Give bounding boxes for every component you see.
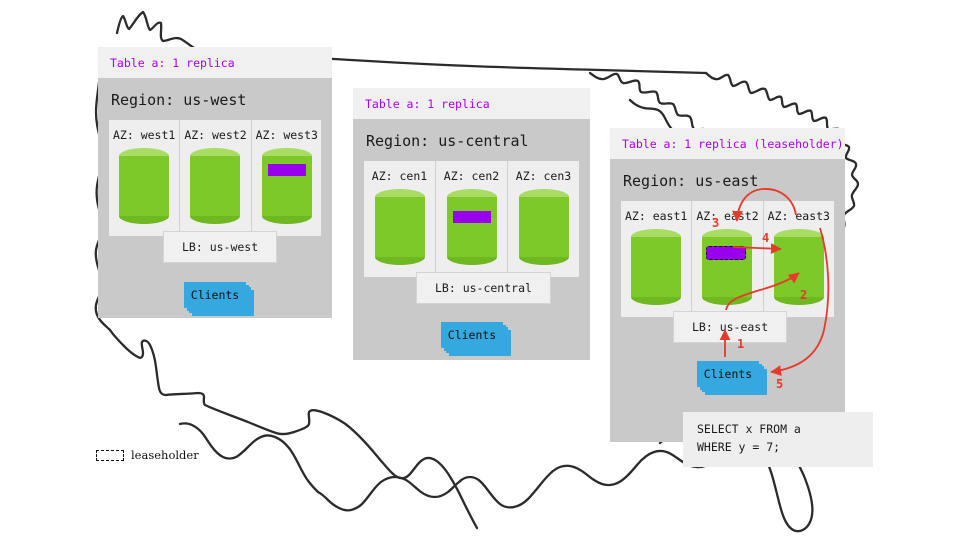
node-cylinder-east1[interactable] [631,229,681,305]
region-panel-us-west: Table a: 1 replica Region: us-west AZ: w… [98,47,332,318]
cylinder-body-icon [774,237,824,297]
az-cell-cen2[interactable]: AZ: cen2 [436,161,508,277]
az-label-east1: AZ: east1 [625,209,687,223]
cylinder-body-icon [375,197,425,257]
az-label-cen2: AZ: cen2 [440,169,503,183]
az-label-cen3: AZ: cen3 [512,169,575,183]
clients-label-us-west[interactable]: Clients [184,282,246,308]
cylinder-body-icon [631,237,681,297]
node-cylinder-cen1[interactable] [375,189,425,265]
az-label-east2: AZ: east2 [696,209,758,223]
legend-label: leaseholder [131,448,199,462]
az-row-us-central: AZ: cen1 AZ: cen2 [364,161,579,277]
cylinder-body-icon [519,197,569,257]
region-panel-us-east: Table a: 1 replica (leaseholder) Region:… [610,128,845,442]
replica-marker-west3 [268,164,306,176]
region-title-us-central: Region: us-central [364,127,579,161]
load-balancer-us-central[interactable]: LB: us-central [416,272,551,304]
az-label-west1: AZ: west1 [113,128,175,142]
flow-step-label-3: 3 [712,216,719,230]
az-cell-east3[interactable]: AZ: east3 [764,201,834,317]
flow-step-label-2: 2 [800,288,807,302]
node-cylinder-west2[interactable] [190,148,240,224]
region-panel-us-central: Table a: 1 replica Region: us-central AZ… [353,88,590,360]
clients-label-us-central[interactable]: Clients [441,322,503,348]
region-header-us-central: Table a: 1 replica [353,88,590,119]
node-cylinder-west3[interactable] [262,148,312,224]
cylinder-body-icon [190,156,240,216]
az-cell-east1[interactable]: AZ: east1 [621,201,692,317]
clients-stack-us-west[interactable]: Clients [184,282,246,308]
az-label-west2: AZ: west2 [184,128,246,142]
flow-step-label-4: 4 [762,231,769,245]
node-cylinder-east3[interactable] [774,229,824,305]
flow-step-label-1: 1 [737,337,744,351]
clients-stack-us-east[interactable]: Clients [697,361,759,387]
leaseholder-marker-east2 [706,246,746,260]
az-row-us-west: AZ: west1 AZ: west2 AZ [109,120,321,236]
sql-query-box: SELECT x FROM a WHERE y = 7; [683,412,873,467]
flow-step-label-5: 5 [776,377,783,391]
region-header-us-west: Table a: 1 replica [98,47,332,78]
node-cylinder-cen2[interactable] [447,189,497,265]
region-title-us-east: Region: us-east [621,167,834,201]
az-label-west3: AZ: west3 [256,128,318,142]
clients-stack-us-central[interactable]: Clients [441,322,503,348]
node-cylinder-west1[interactable] [119,148,169,224]
az-cell-east2[interactable]: AZ: east2 [692,201,763,317]
az-label-cen1: AZ: cen1 [368,169,431,183]
cylinder-body-icon [119,156,169,216]
region-header-us-east: Table a: 1 replica (leaseholder) [610,128,845,159]
legend: leaseholder [96,448,199,462]
clients-label-us-east[interactable]: Clients [697,361,759,387]
az-cell-cen1[interactable]: AZ: cen1 [364,161,436,277]
region-title-us-west: Region: us-west [109,86,321,120]
az-cell-cen3[interactable]: AZ: cen3 [508,161,579,277]
us-outline-southwest [180,423,318,492]
node-cylinder-east2[interactable] [702,229,752,305]
cylinder-body-icon [447,197,497,257]
replica-marker-cen2 [453,211,491,223]
az-cell-west1[interactable]: AZ: west1 [109,120,180,236]
dashed-rect-icon [96,450,124,461]
load-balancer-us-east[interactable]: LB: us-east [673,311,787,343]
diagram-canvas: Table a: 1 replica Region: us-west AZ: w… [0,0,960,540]
az-cell-west3[interactable]: AZ: west3 [252,120,322,236]
region-body-us-east: Region: us-east AZ: east1 AZ: east2 [610,159,845,442]
load-balancer-us-west[interactable]: LB: us-west [163,231,277,263]
az-label-east3: AZ: east3 [768,209,830,223]
az-cell-west2[interactable]: AZ: west2 [180,120,251,236]
node-cylinder-cen3[interactable] [519,189,569,265]
us-outline-great-lakes [590,73,706,130]
